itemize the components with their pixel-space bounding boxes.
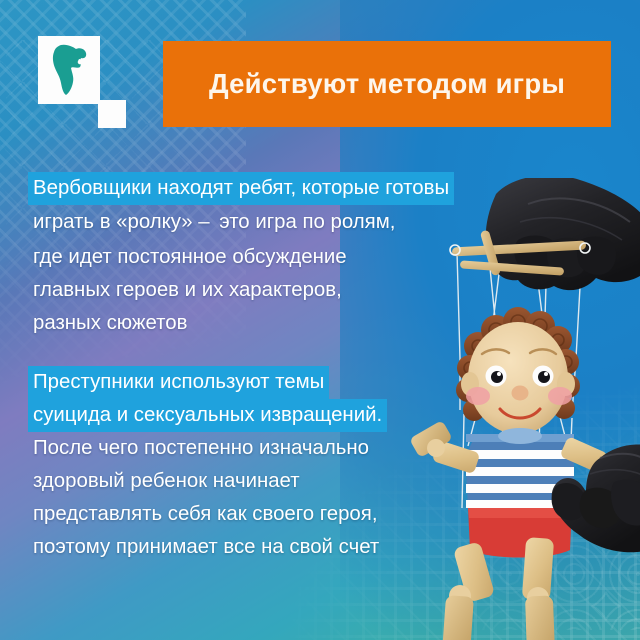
text-line: Преступники используют темы xyxy=(28,366,329,399)
text-line: разных сюжетов xyxy=(28,307,192,340)
header-banner: Действуют методом игры xyxy=(163,41,611,127)
text-line: где идет постоянное обсуждение xyxy=(28,241,352,274)
text-line: суицида и сексуальных извращений. xyxy=(28,399,387,432)
logo xyxy=(38,36,116,126)
region-map-icon xyxy=(49,43,91,97)
page-title: Действуют методом игры xyxy=(209,70,565,98)
paragraph-2: Преступники используют темы суицида и се… xyxy=(33,366,453,564)
content-body: Вербовщики находят ребят, которые готовы… xyxy=(33,172,453,590)
text-line: представлять себя как своего героя, xyxy=(28,498,382,531)
text-line: поэтому принимает все на свой счет xyxy=(28,531,384,564)
puppet-head xyxy=(456,307,580,434)
text-line: Вербовщики находят ребят, которые готовы xyxy=(28,172,454,205)
text-line: После чего постепенно изначально xyxy=(28,432,374,465)
logo-accent-square xyxy=(98,100,126,128)
text-line: главных героев и их характеров, xyxy=(28,274,347,307)
poster-canvas: Действуют методом игры Вербовщики находя… xyxy=(0,0,640,640)
marionette-illustration xyxy=(400,178,640,640)
text-line: здоровый ребенок начинает xyxy=(28,465,305,498)
paragraph-1: Вербовщики находят ребят, которые готовы… xyxy=(33,172,453,340)
text-line: играть в «ролку» – это игра по ролям, xyxy=(28,205,400,241)
